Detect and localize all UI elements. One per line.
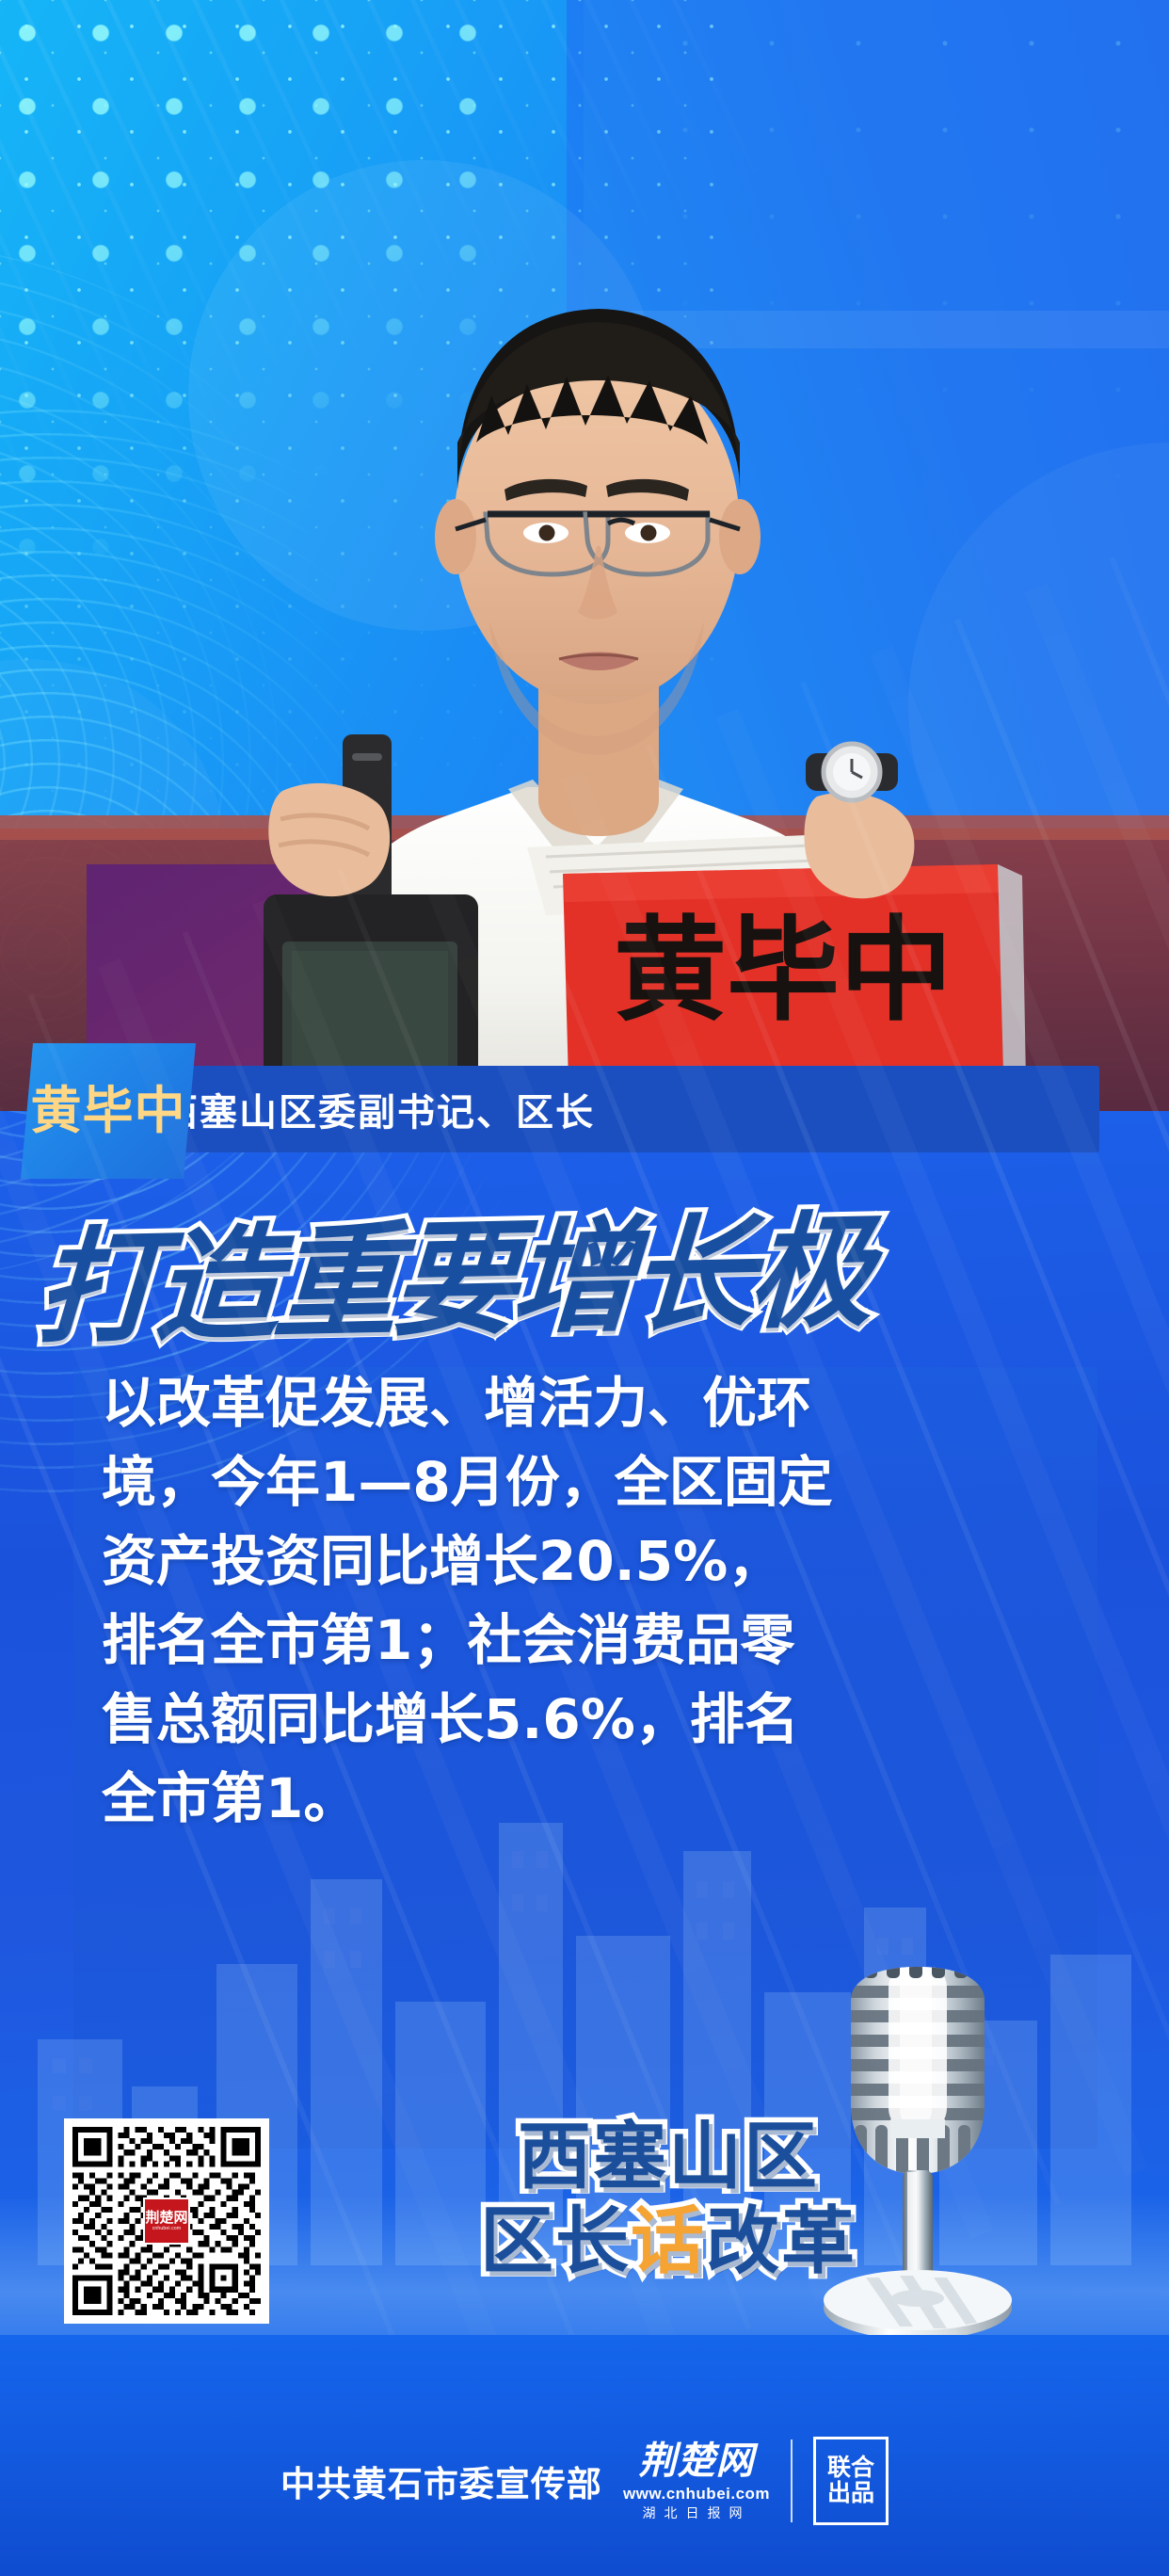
qr-block[interactable]: 荆楚网 cnhubei.com 扫码查看本条新闻	[64, 2118, 280, 2372]
quote-line: 境，今年1—8月份，全区固定	[102, 1442, 1081, 1521]
qr-center-logo: 荆楚网 cnhubei.com	[143, 2198, 190, 2245]
quote-line: 排名全市第1；社会消费品零	[102, 1601, 1081, 1680]
qr-code-icon[interactable]: 荆楚网 cnhubei.com	[64, 2118, 269, 2324]
footer: 中共黄石市委宣传部 荆楚网 www.cnhubei.com 湖北日报网 联合 出…	[0, 2429, 1169, 2533]
quote-text: 以改革促发展、增活力、优环 境，今年1—8月份，全区固定 资产投资同比增长20.…	[102, 1363, 1081, 1838]
joint-production-seal-icon: 联合 出品	[813, 2437, 889, 2525]
footer-department: 中共黄石市委宣传部	[280, 2455, 602, 2506]
program-title-line1: 西塞山区	[424, 2120, 913, 2196]
poster-root: 黄毕中	[0, 0, 1169, 2576]
footer-brand-sub: 湖北日报网	[642, 2506, 750, 2520]
program-title: 西塞山区 区长话改革	[424, 2120, 913, 2279]
quote-line: 售总额同比增长5.6%，排名	[102, 1680, 1081, 1759]
program-title-line2-part2: 改革	[706, 2199, 857, 2284]
seal-line-2: 出品	[827, 2482, 874, 2505]
program-title-line2-part1: 区长	[480, 2199, 631, 2284]
seal-line-1: 联合	[827, 2456, 874, 2480]
footer-brand-name: 荆楚网	[638, 2442, 754, 2480]
quote-line: 资产投资同比增长20.5%，	[102, 1521, 1081, 1601]
footer-divider	[791, 2439, 793, 2522]
footer-brand-url: www.cnhubei.com	[623, 2486, 770, 2502]
quote-line: 以改革促发展、增活力、优环	[102, 1363, 1081, 1442]
qr-logo-url: cnhubei.com	[152, 2227, 182, 2231]
quote-line: 全市第1。	[102, 1759, 1081, 1838]
program-title-line2: 区长话改革	[424, 2205, 913, 2280]
footer-brand: 荆楚网 www.cnhubei.com 湖北日报网	[623, 2442, 770, 2520]
program-title-highlight: 话	[631, 2199, 706, 2284]
qr-logo-name: 荆楚网	[145, 2211, 187, 2225]
